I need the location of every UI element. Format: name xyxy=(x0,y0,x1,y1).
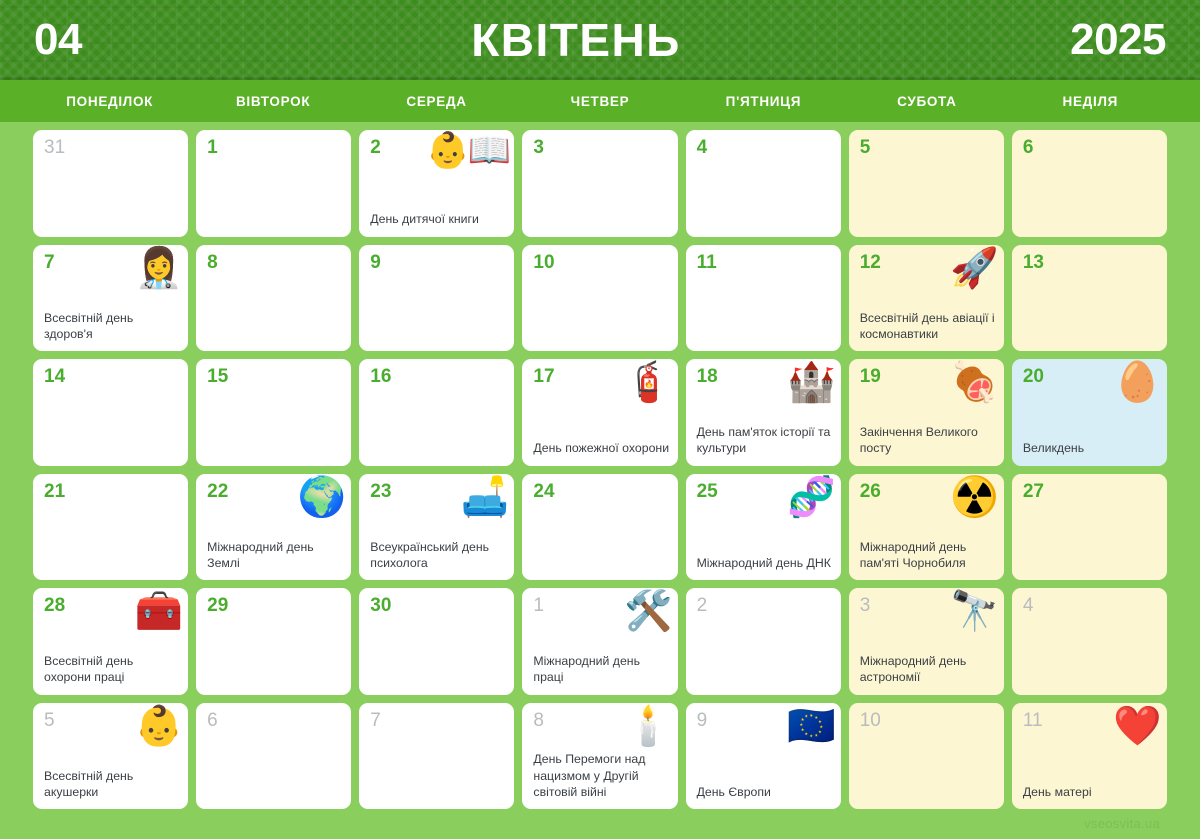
day-number: 8 xyxy=(533,711,667,730)
day-number: 11 xyxy=(697,253,831,272)
day-number: 29 xyxy=(207,596,341,615)
day-cell[interactable]: 4 xyxy=(686,130,841,237)
weekday-label-4: П'ЯТНИЦЯ xyxy=(682,94,845,109)
event-label: Великдень xyxy=(1023,440,1159,456)
day-cell[interactable]: 30 xyxy=(359,588,514,695)
day-cell[interactable]: 3🔭Міжнародний день астрономії xyxy=(849,588,1004,695)
day-cell[interactable]: 24 xyxy=(522,474,677,581)
day-cell[interactable]: 1🛠️Міжнародний день праці xyxy=(522,588,677,695)
day-cell[interactable]: 6 xyxy=(1012,130,1167,237)
day-number: 15 xyxy=(207,367,341,386)
day-number: 9 xyxy=(370,253,504,272)
day-number: 24 xyxy=(533,482,667,501)
day-number: 19 xyxy=(860,367,994,386)
event-label: Всеукраїнський день психолога xyxy=(370,539,506,571)
day-number: 8 xyxy=(207,253,341,272)
day-cell[interactable]: 21 xyxy=(33,474,188,581)
day-number: 28 xyxy=(44,596,178,615)
day-number: 7 xyxy=(370,711,504,730)
event-label: Всесвітній день охорони праці xyxy=(44,653,180,685)
event-label: День пожежної охорони xyxy=(533,440,669,456)
site-watermark: vseosvita.ua xyxy=(1084,816,1160,831)
day-cell[interactable]: 13 xyxy=(1012,245,1167,352)
event-label: Закінчення Великого посту xyxy=(860,424,996,456)
weekday-label-2: СЕРЕДА xyxy=(355,94,518,109)
event-label: День пам'яток історії та культури xyxy=(697,424,833,456)
day-number: 3 xyxy=(533,138,667,157)
day-number: 23 xyxy=(370,482,504,501)
day-cell[interactable]: 29 xyxy=(196,588,351,695)
day-number: 4 xyxy=(1023,596,1157,615)
day-cell[interactable]: 4 xyxy=(1012,588,1167,695)
day-number: 2 xyxy=(370,138,504,157)
day-number: 31 xyxy=(44,138,178,157)
weekday-label-0: ПОНЕДІЛОК xyxy=(28,94,191,109)
calendar-footer: vseosvita.ua xyxy=(0,809,1200,839)
weekday-label-1: ВІВТОРОК xyxy=(191,94,354,109)
event-label: День Європи xyxy=(697,784,833,800)
day-number: 25 xyxy=(697,482,831,501)
day-cell[interactable]: 22🌍Міжнародний день Землі xyxy=(196,474,351,581)
event-label: День матері xyxy=(1023,784,1159,800)
day-number: 9 xyxy=(697,711,831,730)
calendar-grid: 3112👶📖День дитячої книги34567👩‍⚕️Всесвіт… xyxy=(33,130,1167,809)
day-number: 5 xyxy=(860,138,994,157)
event-label: Всесвітній день авіації і космонавтики xyxy=(860,310,996,342)
day-cell[interactable]: 23🛋️Всеукраїнський день психолога xyxy=(359,474,514,581)
day-cell[interactable]: 19🍖Закінчення Великого посту xyxy=(849,359,1004,466)
day-number: 6 xyxy=(1023,138,1157,157)
weekday-label-6: НЕДІЛЯ xyxy=(1009,94,1172,109)
day-cell[interactable]: 9 xyxy=(359,245,514,352)
day-cell[interactable]: 2 xyxy=(686,588,841,695)
day-cell[interactable]: 10 xyxy=(522,245,677,352)
day-number: 5 xyxy=(44,711,178,730)
weekday-header-row: ПОНЕДІЛОКВІВТОРОКСЕРЕДАЧЕТВЕРП'ЯТНИЦЯСУБ… xyxy=(0,80,1200,122)
day-number: 13 xyxy=(1023,253,1157,272)
calendar-grid-wrapper: 3112👶📖День дитячої книги34567👩‍⚕️Всесвіт… xyxy=(0,122,1200,809)
day-number: 21 xyxy=(44,482,178,501)
day-number: 16 xyxy=(370,367,504,386)
day-number: 1 xyxy=(533,596,667,615)
day-cell[interactable]: 11❤️День матері xyxy=(1012,703,1167,810)
day-cell[interactable]: 8 xyxy=(196,245,351,352)
day-cell[interactable]: 6 xyxy=(196,703,351,810)
day-cell[interactable]: 28🧰Всесвітній день охорони праці xyxy=(33,588,188,695)
event-label: Всесвітній день здоров'я xyxy=(44,310,180,342)
calendar-page: 04 КВІТЕНЬ 2025 ПОНЕДІЛОКВІВТОРОКСЕРЕДАЧ… xyxy=(0,0,1200,839)
day-cell[interactable]: 25🧬Міжнародний день ДНК xyxy=(686,474,841,581)
day-cell[interactable]: 7 xyxy=(359,703,514,810)
calendar-header: 04 КВІТЕНЬ 2025 xyxy=(0,0,1200,80)
day-cell[interactable]: 26☢️Міжнародний день пам'яті Чорнобиля xyxy=(849,474,1004,581)
day-cell[interactable]: 15 xyxy=(196,359,351,466)
day-cell[interactable]: 18🏰День пам'яток історії та культури xyxy=(686,359,841,466)
day-number: 22 xyxy=(207,482,341,501)
event-label: День Перемоги над нацизмом у Другій світ… xyxy=(533,751,669,800)
month-number: 04 xyxy=(34,18,82,62)
day-number: 12 xyxy=(860,253,994,272)
day-number: 17 xyxy=(533,367,667,386)
day-number: 27 xyxy=(1023,482,1157,501)
weekday-label-5: СУБОТА xyxy=(845,94,1008,109)
day-number: 7 xyxy=(44,253,178,272)
day-cell[interactable]: 17🧯День пожежної охорони xyxy=(522,359,677,466)
day-number: 11 xyxy=(1023,711,1157,730)
day-number: 6 xyxy=(207,711,341,730)
day-number: 2 xyxy=(697,596,831,615)
day-number: 3 xyxy=(860,596,994,615)
day-cell[interactable]: 5👶Всесвітній день акушерки xyxy=(33,703,188,810)
day-cell[interactable]: 2👶📖День дитячої книги xyxy=(359,130,514,237)
day-cell[interactable]: 7👩‍⚕️Всесвітній день здоров'я xyxy=(33,245,188,352)
day-cell[interactable]: 20🥚Великдень xyxy=(1012,359,1167,466)
year-number: 2025 xyxy=(1070,18,1166,62)
event-label: Міжнародний день ДНК xyxy=(697,555,833,571)
day-number: 30 xyxy=(370,596,504,615)
day-cell[interactable]: 11 xyxy=(686,245,841,352)
day-number: 4 xyxy=(697,138,831,157)
event-label: День дитячої книги xyxy=(370,211,506,227)
day-cell[interactable]: 27 xyxy=(1012,474,1167,581)
event-label: Міжнародний день пам'яті Чорнобиля xyxy=(860,539,996,571)
day-cell[interactable]: 12🚀Всесвітній день авіації і космонавтик… xyxy=(849,245,1004,352)
day-number: 20 xyxy=(1023,367,1157,386)
event-label: Міжнародний день астрономії xyxy=(860,653,996,685)
day-number: 26 xyxy=(860,482,994,501)
day-number: 10 xyxy=(533,253,667,272)
day-cell[interactable]: 3 xyxy=(522,130,677,237)
day-cell[interactable]: 1 xyxy=(196,130,351,237)
day-cell[interactable]: 14 xyxy=(33,359,188,466)
day-cell[interactable]: 5 xyxy=(849,130,1004,237)
day-cell[interactable]: 31 xyxy=(33,130,188,237)
day-cell[interactable]: 9🇪🇺День Європи xyxy=(686,703,841,810)
day-number: 18 xyxy=(697,367,831,386)
month-name: КВІТЕНЬ xyxy=(471,17,681,63)
day-cell[interactable]: 8🕯️День Перемоги над нацизмом у Другій с… xyxy=(522,703,677,810)
day-cell[interactable]: 10 xyxy=(849,703,1004,810)
day-cell[interactable]: 16 xyxy=(359,359,514,466)
weekday-label-3: ЧЕТВЕР xyxy=(518,94,681,109)
day-number: 1 xyxy=(207,138,341,157)
event-label: Міжнародний день праці xyxy=(533,653,669,685)
day-number: 10 xyxy=(860,711,994,730)
event-label: Всесвітній день акушерки xyxy=(44,768,180,800)
event-label: Міжнародний день Землі xyxy=(207,539,343,571)
day-number: 14 xyxy=(44,367,178,386)
